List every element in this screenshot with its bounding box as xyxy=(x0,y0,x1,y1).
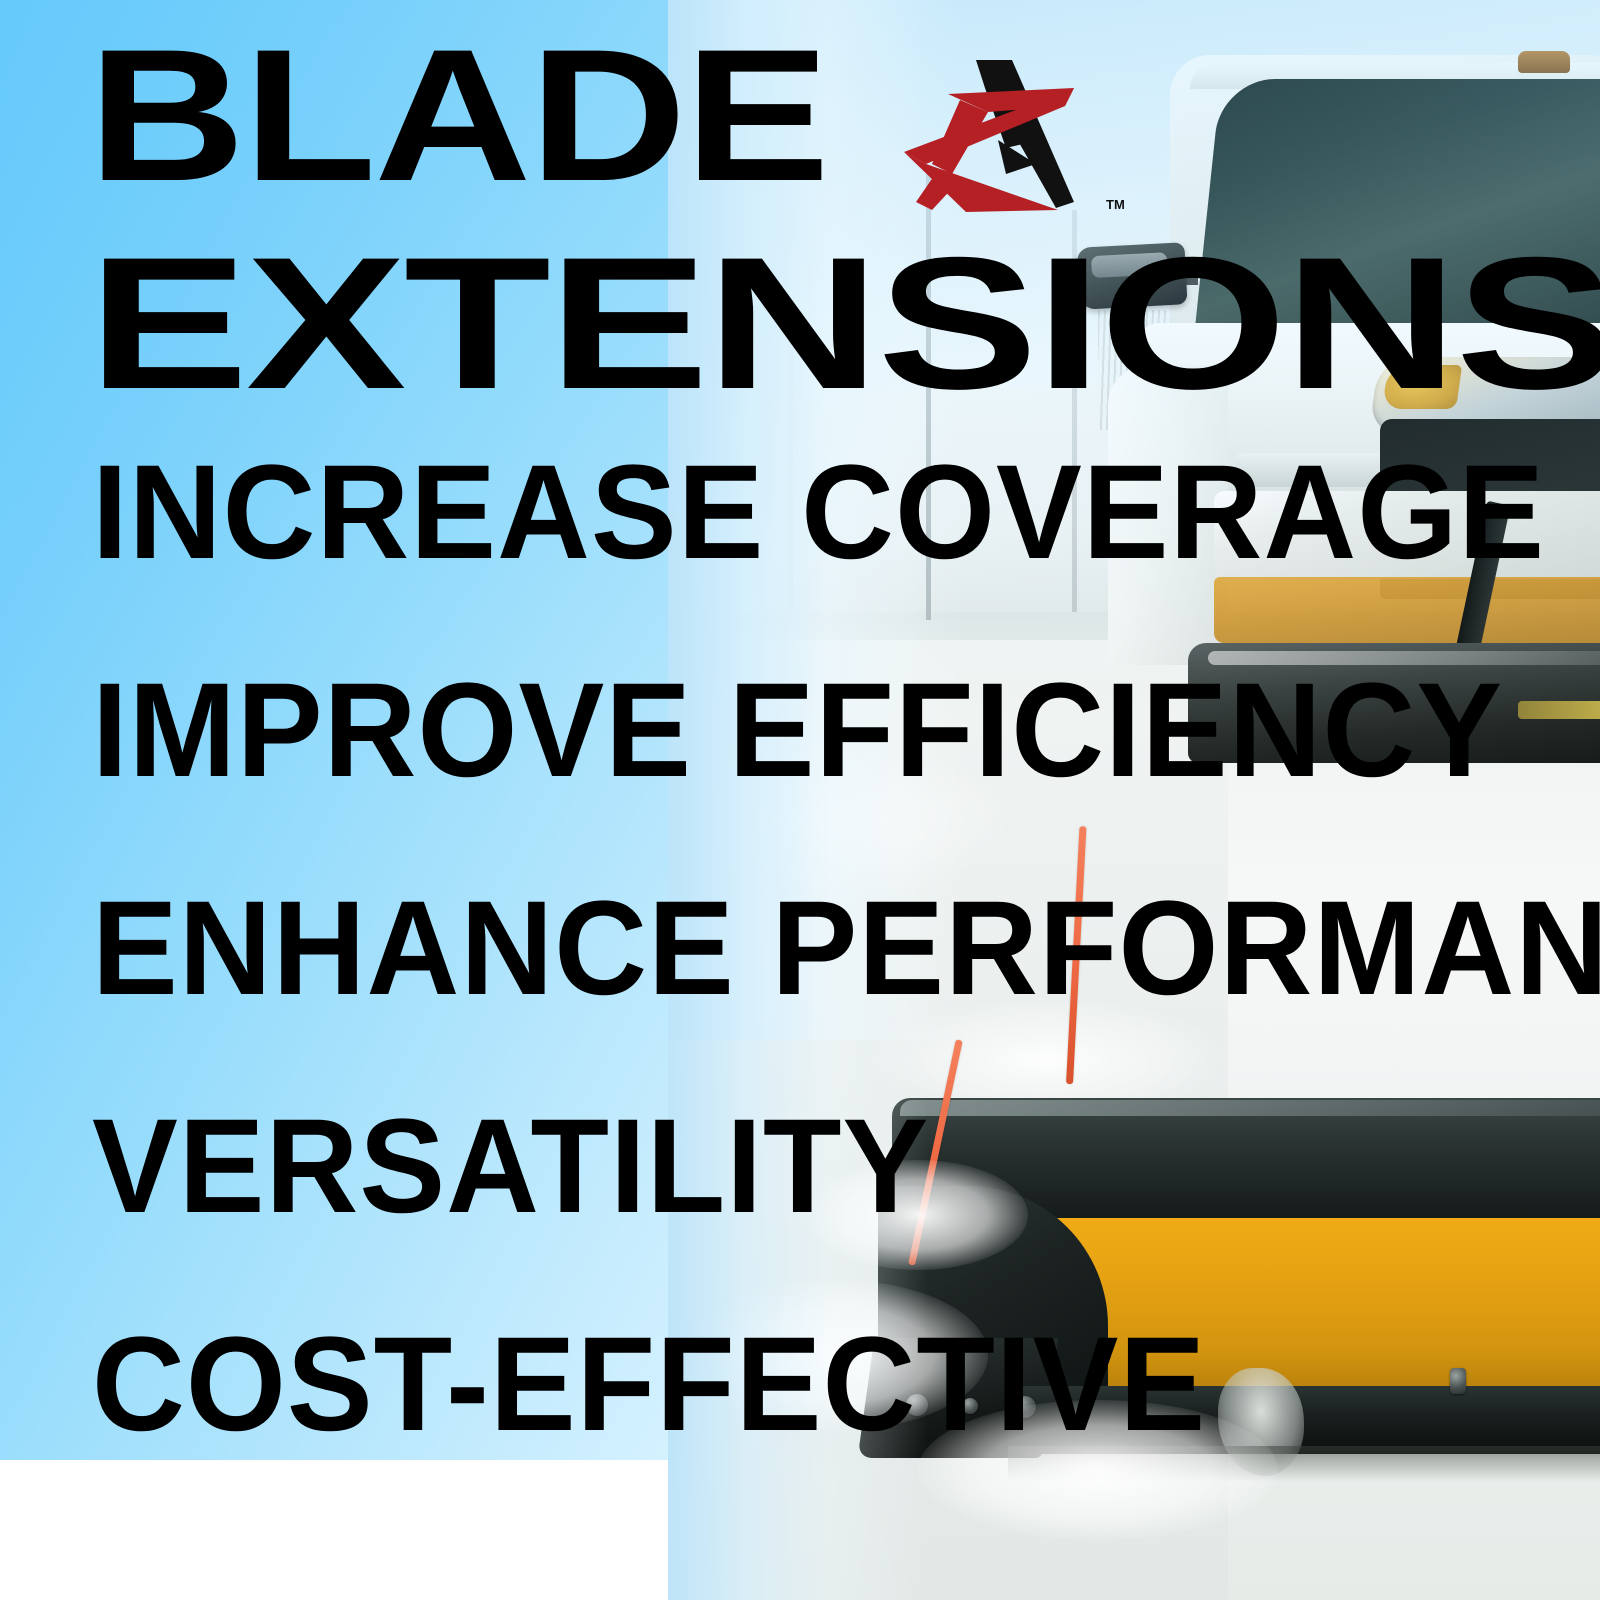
benefit-item-4: VERSATILITY xyxy=(92,1100,1465,1234)
trademark-symbol: TM xyxy=(1106,197,1125,212)
benefit-item-3: ENHANCE PERFORMANCE xyxy=(92,882,1465,1016)
benefit-item-1: INCREASE COVERAGE xyxy=(92,446,1465,580)
brand-logo: TM xyxy=(860,52,1130,224)
benefits-list: INCREASE COVERAGE IMPROVE EFFICIENCY ENH… xyxy=(92,446,1522,1452)
benefit-item-5: COST-EFFECTIVE xyxy=(92,1318,1465,1452)
page-subtitle: EXTENSIONS xyxy=(88,248,1600,398)
headline-row-1: BLADE xyxy=(88,40,1508,190)
poster-content: BLADE EXTENSIONS xyxy=(0,0,1600,1600)
benefit-item-2: IMPROVE EFFICIENCY xyxy=(92,664,1465,798)
poster-canvas: BLADE EXTENSIONS xyxy=(0,0,1600,1600)
page-title: BLADE xyxy=(88,40,828,190)
headline-block: BLADE EXTENSIONS xyxy=(88,40,1508,190)
